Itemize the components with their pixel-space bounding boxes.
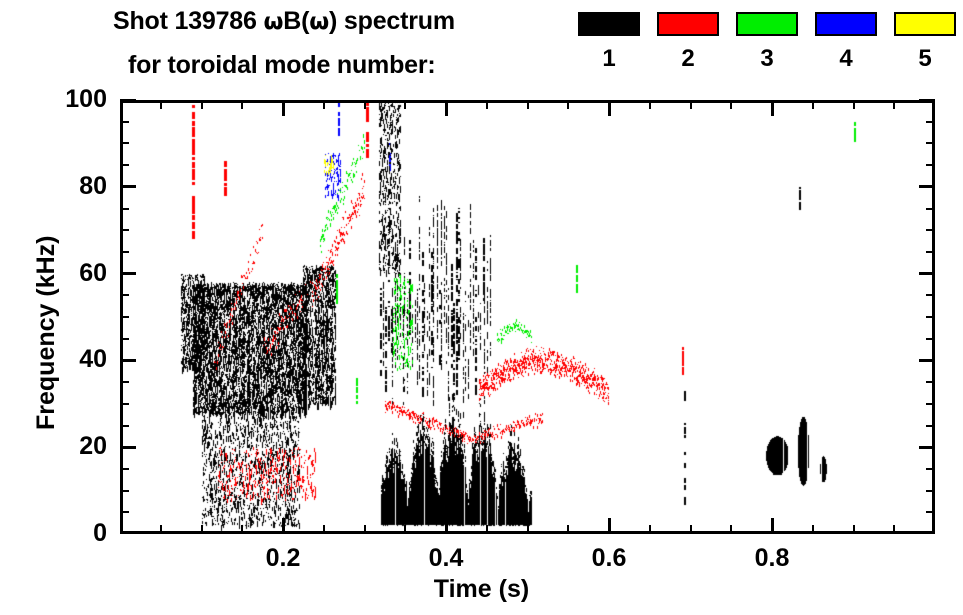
y-tick-minor-right [926, 251, 935, 253]
y-tick-minor [120, 490, 129, 492]
y-tick-major-right [919, 359, 935, 362]
x-tick-minor [364, 525, 366, 534]
x-tick-minor-top [160, 100, 162, 109]
x-tick-major [445, 518, 448, 534]
y-tick-major-right [919, 446, 935, 449]
y-tick-minor-right [926, 142, 935, 144]
y-tick-label-60: 60 [79, 261, 107, 286]
figure-title-line-1: Shot 139786 ωB(ω) spectrum [113, 9, 455, 34]
legend: 12345 [578, 12, 958, 90]
x-tick-minor-top [893, 100, 895, 109]
x-tick-minor [567, 525, 569, 534]
y-tick-minor-right [926, 425, 935, 427]
legend-label-3: 3 [736, 47, 798, 71]
x-tick-minor [160, 525, 162, 534]
y-tick-label-100: 100 [65, 87, 107, 112]
x-tick-minor [730, 525, 732, 534]
x-tick-minor-top [201, 100, 203, 109]
y-tick-label-0: 0 [93, 521, 107, 546]
x-tick-minor [241, 525, 243, 534]
legend-item-4: 4 [815, 12, 877, 71]
legend-swatch-4 [815, 12, 877, 36]
y-tick-minor [120, 381, 129, 383]
y-tick-major-right [919, 99, 935, 102]
x-tick-minor [323, 525, 325, 534]
title-shot-text: Shot 139786 [113, 7, 263, 35]
legend-label-1: 1 [578, 47, 640, 71]
y-tick-minor-right [926, 403, 935, 405]
legend-item-3: 3 [736, 12, 798, 71]
legend-swatch-2 [657, 12, 719, 36]
x-tick-minor-top [527, 100, 529, 109]
figure-title-line-2: for toroidal mode number: [128, 53, 436, 78]
x-tick-minor-top [853, 100, 855, 109]
title-b-text: B( [283, 7, 309, 35]
y-tick-minor [120, 316, 129, 318]
y-tick-minor [120, 403, 129, 405]
y-tick-minor [120, 229, 129, 231]
y-tick-minor-right [926, 338, 935, 340]
y-tick-minor-right [926, 121, 935, 123]
y-tick-minor [120, 425, 129, 427]
x-tick-minor [893, 525, 895, 534]
x-tick-minor [812, 525, 814, 534]
y-tick-label-20: 20 [79, 434, 107, 459]
y-tick-minor-right [926, 468, 935, 470]
y-tick-major [120, 531, 136, 534]
x-tick-minor-top [730, 100, 732, 109]
x-tick-label-0.4: 0.4 [406, 546, 486, 571]
y-tick-major [120, 446, 136, 449]
y-tick-minor [120, 294, 129, 296]
x-tick-minor-top [364, 100, 366, 109]
x-tick-label-0.8: 0.8 [732, 546, 812, 571]
x-tick-minor [853, 525, 855, 534]
x-tick-minor [404, 525, 406, 534]
y-tick-label-40: 40 [79, 347, 107, 372]
y-tick-major-right [919, 272, 935, 275]
x-tick-minor-top [567, 100, 569, 109]
y-tick-minor [120, 164, 129, 166]
y-tick-minor [120, 338, 129, 340]
legend-item-5: 5 [894, 12, 956, 71]
y-tick-minor [120, 251, 129, 253]
y-tick-minor-right [926, 208, 935, 210]
y-tick-minor [120, 121, 129, 123]
x-tick-major-top [608, 100, 611, 116]
legend-label-5: 5 [894, 47, 956, 71]
x-tick-minor [649, 525, 651, 534]
legend-item-1: 1 [578, 12, 640, 71]
y-tick-major [120, 272, 136, 275]
y-tick-major [120, 99, 136, 102]
y-tick-minor [120, 468, 129, 470]
y-tick-minor-right [926, 490, 935, 492]
x-tick-minor [486, 525, 488, 534]
y-tick-label-80: 80 [79, 174, 107, 199]
x-tick-label-0.2: 0.2 [243, 546, 323, 571]
y-tick-minor [120, 142, 129, 144]
omega-symbol-2: ω [309, 9, 329, 35]
axis-frame [120, 100, 935, 534]
y-tick-major-right [919, 185, 935, 188]
legend-swatch-1 [578, 12, 640, 36]
y-axis-title: Frequency (kHz) [32, 236, 61, 430]
x-tick-major-top [445, 100, 448, 116]
legend-item-2: 2 [657, 12, 719, 71]
plot-area [120, 100, 935, 534]
x-axis-title: Time (s) [0, 575, 963, 604]
y-tick-minor-right [926, 294, 935, 296]
y-tick-minor-right [926, 316, 935, 318]
x-tick-minor-top [404, 100, 406, 109]
y-tick-major-right [919, 531, 935, 534]
x-tick-minor-top [241, 100, 243, 109]
x-tick-minor [690, 525, 692, 534]
x-tick-minor-top [690, 100, 692, 109]
x-tick-major-top [282, 100, 285, 116]
x-tick-major [771, 518, 774, 534]
x-tick-major-top [771, 100, 774, 116]
y-tick-minor [120, 208, 129, 210]
y-tick-minor [120, 511, 129, 513]
title-spectrum-text: ) spectrum [329, 7, 455, 35]
legend-swatch-3 [736, 12, 798, 36]
legend-swatch-5 [894, 12, 956, 36]
x-tick-minor-top [812, 100, 814, 109]
y-tick-minor-right [926, 511, 935, 513]
y-tick-minor-right [926, 164, 935, 166]
spectrogram-figure: Shot 139786 ωB(ω) spectrum for toroidal … [0, 0, 963, 615]
x-tick-minor [527, 525, 529, 534]
y-tick-major [120, 185, 136, 188]
x-tick-major [608, 518, 611, 534]
x-tick-minor-top [486, 100, 488, 109]
x-tick-minor-top [323, 100, 325, 109]
legend-label-2: 2 [657, 47, 719, 71]
y-tick-major [120, 359, 136, 362]
x-tick-minor [201, 525, 203, 534]
x-tick-label-0.6: 0.6 [569, 546, 649, 571]
x-tick-minor-top [649, 100, 651, 109]
x-tick-major [282, 518, 285, 534]
y-tick-minor-right [926, 381, 935, 383]
legend-label-4: 4 [815, 47, 877, 71]
omega-symbol-1: ω [263, 9, 283, 35]
y-tick-minor-right [926, 229, 935, 231]
